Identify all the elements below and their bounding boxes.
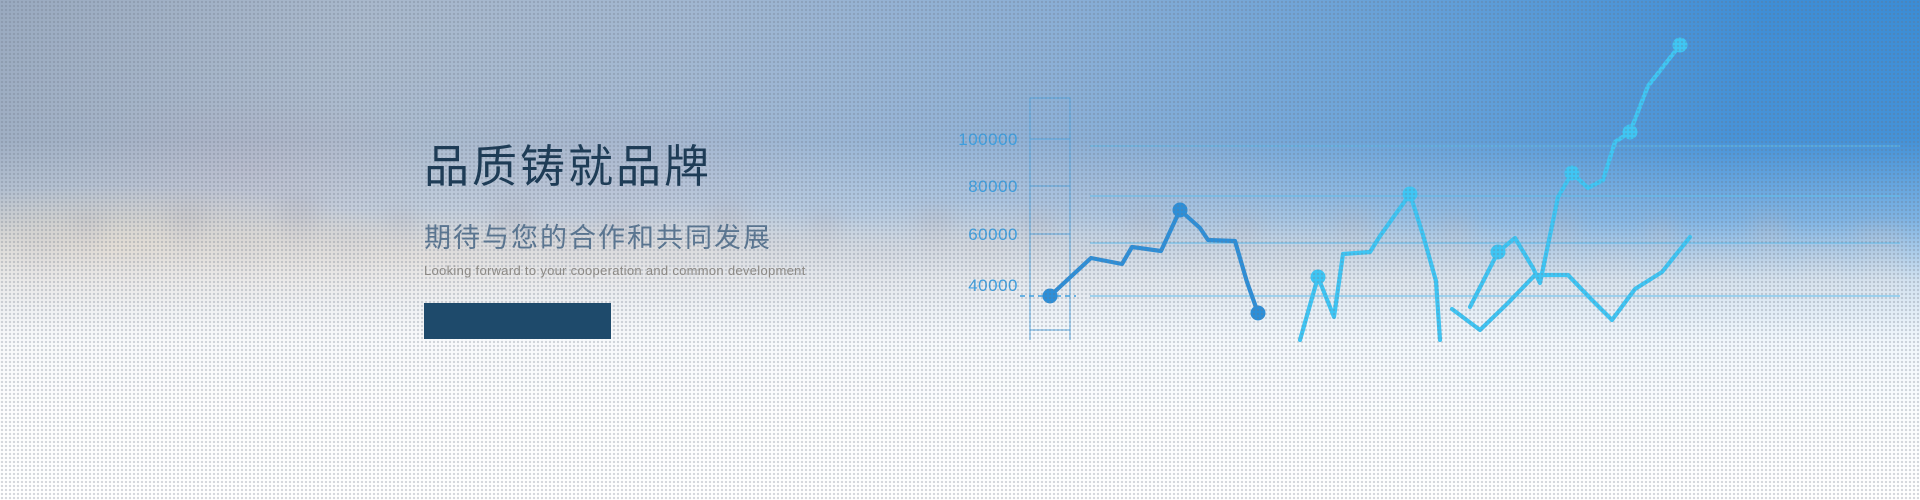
banner-subheadline: 期待与您的合作和共同发展 bbox=[424, 222, 884, 254]
banner-english-tagline: Looking forward to your cooperation and … bbox=[424, 263, 884, 279]
cta-button[interactable] bbox=[424, 303, 611, 339]
banner-copy: 品质铸就品牌 期待与您的合作和共同发展 Looking forward to y… bbox=[424, 140, 884, 339]
halftone-dot-texture bbox=[0, 0, 1920, 500]
hero-banner: 100000 80000 60000 40000 bbox=[0, 0, 1920, 500]
banner-headline: 品质铸就品牌 bbox=[424, 140, 884, 194]
